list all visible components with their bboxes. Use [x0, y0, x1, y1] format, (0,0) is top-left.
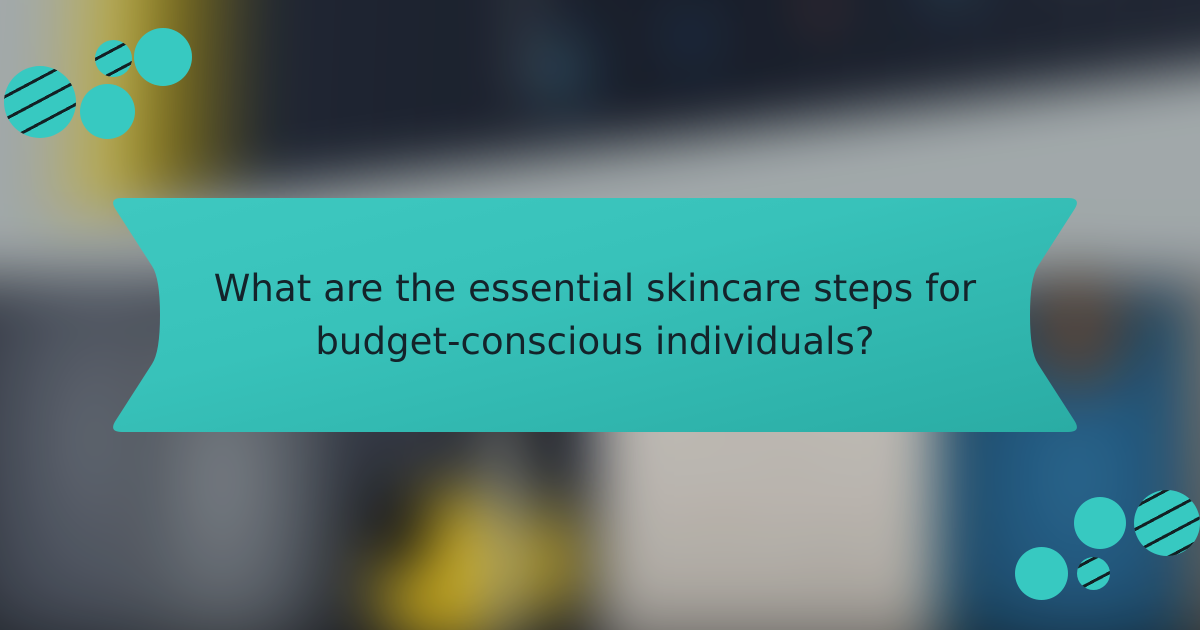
headline-line-2: budget-conscious individuals? [315, 315, 874, 368]
decorative-circle-bottom-plain-br [1015, 547, 1068, 600]
share-card-canvas: What are the essential skincare steps fo… [0, 0, 1200, 630]
decorative-circle-large-plain [134, 28, 192, 86]
decorative-circle-medium-plain [80, 84, 135, 139]
decorative-circle-large-striped-br [1134, 490, 1200, 556]
decorative-circle-small-striped [95, 40, 132, 77]
headline-line-1: What are the essential skincare steps fo… [214, 262, 977, 315]
decorative-circle-medium-plain-br [1074, 497, 1126, 549]
headline-text: What are the essential skincare steps fo… [108, 198, 1082, 432]
decorative-circle-small-striped-br [1077, 557, 1110, 590]
decorative-circle-large-striped [4, 66, 76, 138]
